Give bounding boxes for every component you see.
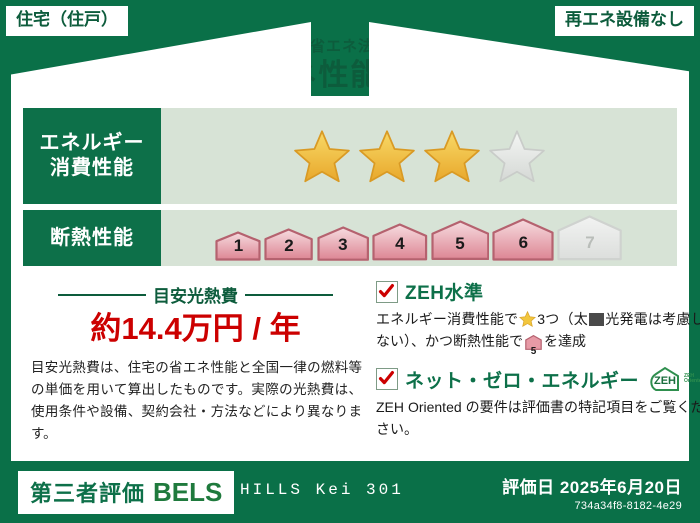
star-rating [294,129,545,183]
star-empty-icon [489,129,545,183]
zeh-desc-part1: エネルギー消費性能で [376,311,518,327]
house-level-number: 6 [492,234,554,251]
house-level-scale: 1234567 [215,215,622,261]
house-level-filled: 2 [264,228,313,261]
certification-column: ZEH水準 エネルギー消費性能で3つ（太光発電は考慮しない）、かつ断熱性能で5を… [368,272,700,445]
building-name: HILLS Kei 301 [240,481,404,499]
net-zero-energy-description: ZEH Oriented の要件は評価書の特記項目をご覧ください。 [376,396,700,441]
svg-text:ZEH: ZEH [654,375,676,387]
energy-performance-row: エネルギー 消費性能 [23,108,677,204]
house-level-number: 2 [264,237,313,254]
energy-label-card: 住宅（住戸） 再エネ設備なし 建築物省エネ法に基づく 省エネ性能ラベル エネルギ… [0,0,700,523]
house-level-number: 3 [317,236,369,253]
bels-japanese-text: 第三者評価 [30,476,145,508]
zeh-desc-part4: を達成 [544,333,586,349]
heading-rule-right [245,294,333,296]
utility-cost-heading: 目安光熱費 [23,282,368,307]
star-filled-icon [359,129,415,183]
zeh-standard-block: ZEH水準 エネルギー消費性能で3つ（太光発電は考慮しない）、かつ断熱性能で5を… [376,278,700,357]
energy-performance-label: エネルギー 消費性能 [23,108,161,204]
label-footer: 第三者評価 BELS HILLS Kei 301 評価日 2025年6月20日 … [0,461,700,523]
heading-rule-left [58,294,146,296]
zeh-desc-stars: 3つ [537,311,559,327]
evaluation-id: 734a34f8-8182-4e29 [502,500,682,512]
housing-type-tag: 住宅（住戸） [6,6,128,36]
house-level-filled: 3 [317,226,369,261]
energy-label-line2: 消費性能 [50,156,134,181]
star-filled-icon [294,129,350,183]
zeh-standard-description: エネルギー消費性能で3つ（太光発電は考慮しない）、かつ断熱性能で5を達成 [376,308,700,357]
zeh-standard-title: ZEH水準 [405,278,484,305]
energy-label-line1: エネルギー [40,131,145,156]
house-level-number: 7 [557,234,622,251]
house-level-filled: 5 [431,220,490,260]
redacted-text-block [589,313,604,326]
house-level-number: 1 [215,237,261,254]
zeh-logo-sub-line2: Oriented [684,379,700,385]
net-zero-energy-title: ネット・ゼロ・エネルギー [405,366,639,393]
insulation-performance-levels: 1234567 [161,210,677,266]
inline-house-level: 5 [525,347,542,357]
label-body-panel: エネルギー 消費性能 断熱性能 1234567 [11,96,689,461]
insulation-performance-row: 断熱性能 1234567 [23,210,677,266]
house-level-filled: 1 [215,231,261,261]
title-subtitle: 建築物省エネ法に基づく [0,38,700,56]
utility-cost-column: 目安光熱費 約14.4万円 / 年 目安光熱費は、住宅の省エネ性能と全国一律の燃… [23,272,368,445]
zeh-standard-header: ZEH水準 [376,278,700,305]
house-level-number: 5 [431,235,490,252]
renewable-equipment-tag: 再エネ設備なし [555,6,694,36]
checkmark-icon [378,370,395,387]
inline-star-icon [519,311,536,327]
insulation-label-text: 断熱性能 [50,226,134,251]
net-zero-energy-block: ネット・ゼロ・エネルギー ZEH ZEH Oriented [376,366,700,441]
zeh-standard-checkbox[interactable] [376,281,398,303]
net-zero-energy-header: ネット・ゼロ・エネルギー ZEH ZEH Oriented [376,366,700,393]
zeh-house-logo-icon: ZEH [648,366,682,392]
house-level-empty: 7 [557,215,622,261]
zeh-desc-part2: （太 [560,311,588,327]
bels-badge: 第三者評価 BELS [18,471,234,514]
utility-cost-note: 目安光熱費は、住宅の省エネ性能と全国一律の燃料等の単価を用いて算出したものです。… [23,357,368,444]
bels-logo-text: BELS [153,477,222,508]
star-filled-icon [424,129,480,183]
energy-performance-stars [161,108,677,204]
evaluation-info: 評価日 2025年6月20日 734a34f8-8182-4e29 [502,473,682,512]
net-zero-energy-checkbox[interactable] [376,368,398,390]
utility-cost-value: 約14.4万円 / 年 [23,312,368,346]
zeh-oriented-logo: ZEH ZEH Oriented [648,366,700,392]
evaluation-date: 評価日 2025年6月20日 [502,473,682,498]
house-level-filled: 6 [492,218,554,261]
utility-cost-heading-text: 目安光熱費 [153,282,238,307]
lower-section: 目安光熱費 約14.4万円 / 年 目安光熱費は、住宅の省エネ性能と全国一律の燃… [23,272,677,445]
insulation-performance-label: 断熱性能 [23,210,161,266]
house-level-filled: 4 [372,223,428,261]
house-level-number: 4 [372,235,428,252]
checkmark-icon [378,283,395,300]
inline-house-badge: 5 [525,334,542,356]
